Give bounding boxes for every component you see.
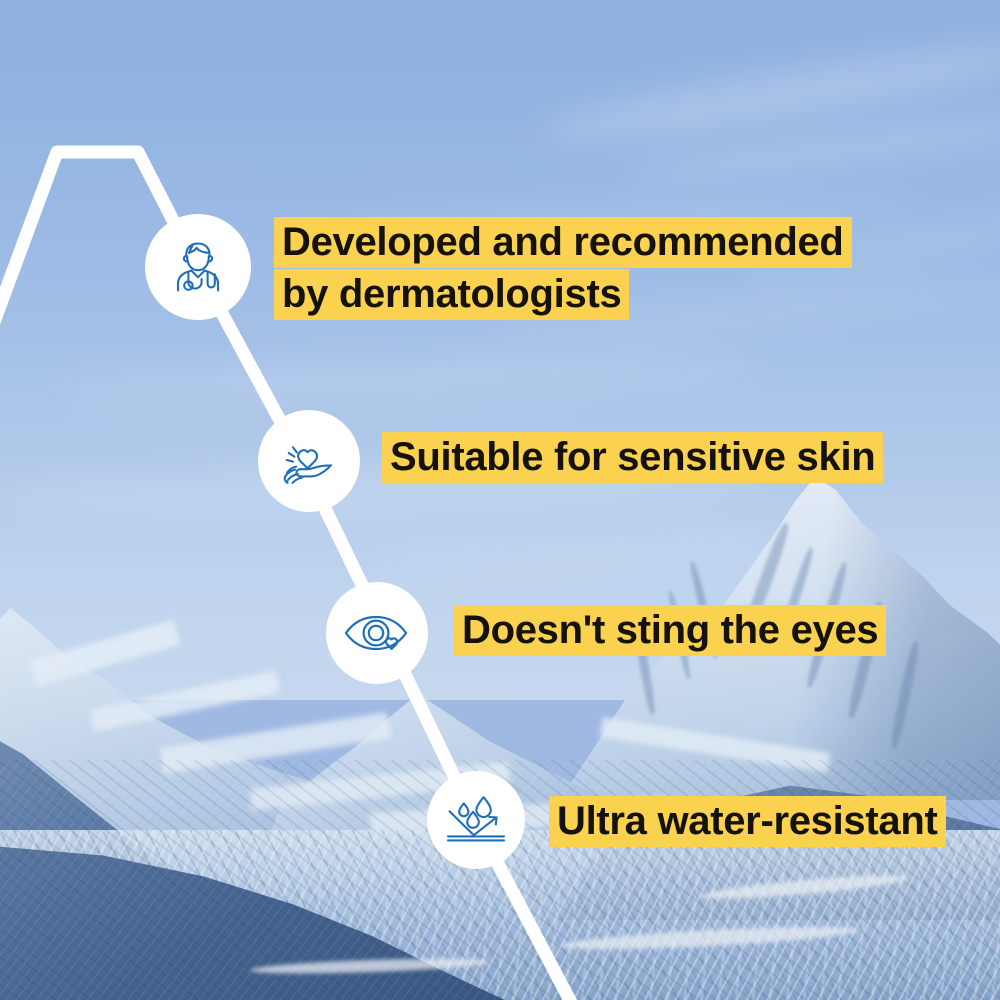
feature-label-line1: Suitable for sensitive skin [382,432,883,483]
feature-badge-dermatologist [145,214,251,320]
feature-label-water-resistant: Ultra water-resistant [549,795,1000,847]
feature-badge-no-sting [326,582,428,684]
feature-label-dermatologist: Developed and recommended by dermatologi… [274,216,914,320]
feature-label-line2: by dermatologists [274,269,629,320]
feature-badge-water-resistant [427,771,525,869]
doctor-stethoscope-icon [162,231,234,303]
feature-label-sensitive-skin: Suitable for sensitive skin [382,431,942,483]
feature-badge-sensitive-skin [258,410,360,512]
feature-poster: Developed and recommended by dermatologi… [0,0,1000,1000]
feature-label-line1: Developed and recommended [274,217,852,268]
hand-heart-icon [273,425,345,497]
water-droplets-repel-icon [440,784,512,856]
feature-label-line1: Ultra water-resistant [549,796,946,847]
feature-label-no-sting: Doesn't sting the eyes [454,604,954,656]
eye-heart-icon [340,596,414,670]
feature-label-line1: Doesn't sting the eyes [454,605,886,656]
